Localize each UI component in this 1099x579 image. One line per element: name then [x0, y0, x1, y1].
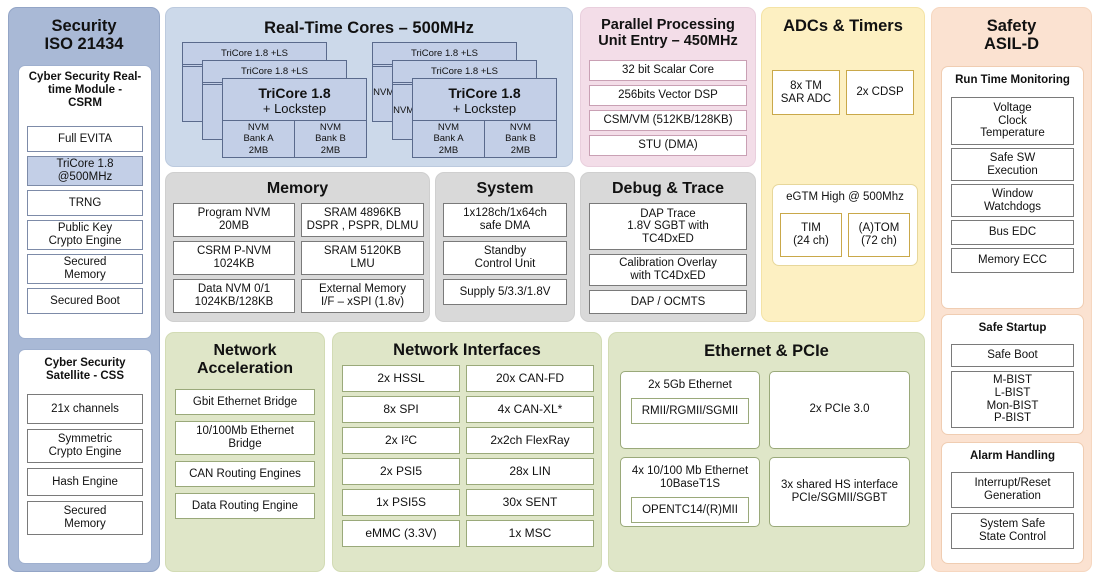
memory-left-item-0[interactable]: Program NVM20MB	[173, 203, 295, 237]
panel-safety: Safety ASIL-D Run Time Monitoring Voltag…	[931, 7, 1092, 572]
startup-item-0[interactable]: Safe Boot	[951, 344, 1074, 367]
egtm-item-row: TIM(24 ch)(A)TOM(72 ch)	[780, 213, 910, 257]
ethernet-block-1[interactable]: 2x PCIe 3.0	[769, 371, 910, 449]
memory-right-item-2[interactable]: External MemoryI/F – xSPI (1.8v)	[301, 279, 424, 313]
nacc-item-2[interactable]: CAN Routing Engines	[175, 461, 315, 487]
startup-title: Safe Startup	[942, 315, 1083, 335]
css-title-line2: Satellite - CSS	[19, 370, 151, 383]
csrm-item-5[interactable]: Secured Boot	[27, 288, 143, 314]
ethernet-pcie-title: Ethernet & PCIe	[609, 342, 924, 360]
runtime-item-list: VoltageClockTemperatureSafe SWExecutionW…	[951, 97, 1074, 276]
core-front-title-line2: + Lockstep	[453, 102, 516, 117]
block-diagram: Security ISO 21434 Cyber Security Real- …	[0, 0, 1099, 579]
core-group-0: TriCore 1.8 +LSTriCore 1.8 +LSTriCore 1.…	[182, 42, 367, 158]
ppu-item-0[interactable]: 32 bit Scalar Core	[589, 60, 747, 81]
ethernet-block-inner-2[interactable]: OPENTC14/(R)MII	[631, 497, 749, 523]
subpanel-css: Cyber Security Satellite - CSS 21x chann…	[18, 349, 152, 564]
core-front-header: TriCore 1.8+ Lockstep	[413, 79, 556, 123]
nif-right-item-2[interactable]: 2x2ch FlexRay	[466, 427, 594, 454]
ethernet-block-caption-0: 2x 5Gb Ethernet	[648, 372, 732, 392]
network-interfaces-title: Network Interfaces	[333, 341, 601, 359]
nif-left-item-0[interactable]: 2x HSSL	[342, 365, 460, 392]
ppu-item-3[interactable]: STU (DMA)	[589, 135, 747, 156]
nif-right-item-4[interactable]: 30x SENT	[466, 489, 594, 516]
nif-left-item-2[interactable]: 2x I²C	[342, 427, 460, 454]
ppu-title-line1: Parallel Processing	[581, 17, 755, 33]
core-front-title-line1: TriCore 1.8	[448, 86, 520, 102]
runtime-item-2[interactable]: WindowWatchdogs	[951, 184, 1074, 217]
nif-right-item-3[interactable]: 28x LIN	[466, 458, 594, 485]
panel-system: System 1x128ch/1x64chsafe DMAStandbyCont…	[435, 172, 575, 322]
nif-left-item-4[interactable]: 1x PSI5S	[342, 489, 460, 516]
adc-title: ADCs & Timers	[762, 17, 924, 35]
safety-title: Safety ASIL-D	[932, 17, 1091, 54]
system-item-list: 1x128ch/1x64chsafe DMAStandbyControl Uni…	[443, 203, 567, 309]
ethernet-block-0[interactable]: 2x 5Gb EthernetRMII/RGMII/SGMII	[620, 371, 760, 449]
panel-security-title: Security ISO 21434	[9, 17, 159, 54]
ethernet-block-3[interactable]: 3x shared HS interfacePCIe/SGMII/SGBT	[769, 457, 910, 527]
security-title-line1: Security	[9, 17, 159, 35]
core-group-1: TriCore 1.8 +LSNVMBank A1MBTriCore 1.8 +…	[372, 42, 557, 158]
safety-title-line1: Safety	[932, 17, 1091, 35]
egtm-title: eGTM High @ 500Mhz	[773, 185, 917, 203]
ppu-item-1[interactable]: 256bits Vector DSP	[589, 85, 747, 106]
nif-left-item-5[interactable]: eMMC (3.3V)	[342, 520, 460, 547]
nif-right-item-5[interactable]: 1x MSC	[466, 520, 594, 547]
egtm-item-1[interactable]: (A)TOM(72 ch)	[848, 213, 910, 257]
memory-right-column: SRAM 4896KBDSPR , PSPR, DLMUSRAM 5120KBL…	[301, 203, 424, 317]
egtm-item-0[interactable]: TIM(24 ch)	[780, 213, 842, 257]
core-front-bank-0[interactable]: NVMBank A2MB	[413, 121, 484, 157]
nacc-item-0[interactable]: Gbit Ethernet Bridge	[175, 389, 315, 415]
alarm-item-list: Interrupt/ResetGenerationSystem SafeStat…	[951, 472, 1074, 554]
panel-debug-trace: Debug & Trace DAP Trace1.8V SGBT withTC4…	[580, 172, 756, 322]
nif-left-item-3[interactable]: 2x PSI5	[342, 458, 460, 485]
startup-item-list: Safe BootM-BISTL-BISTMon-BISTP-BIST	[951, 344, 1074, 432]
nacc-item-1[interactable]: 10/100Mb EthernetBridge	[175, 421, 315, 455]
memory-left-item-1[interactable]: CSRM P-NVM1024KB	[173, 241, 295, 275]
core-front-title-line2: + Lockstep	[263, 102, 326, 117]
csrm-item-3[interactable]: Public KeyCrypto Engine	[27, 220, 143, 250]
csrm-title-line2: time Module -	[19, 84, 151, 97]
csrm-item-1[interactable]: TriCore 1.8@500MHz	[27, 156, 143, 186]
core-front-bank-0[interactable]: NVMBank A2MB	[223, 121, 294, 157]
debug-item-2[interactable]: DAP / OCMTS	[589, 290, 747, 314]
runtime-item-4[interactable]: Memory ECC	[951, 248, 1074, 273]
nif-left-item-1[interactable]: 8x SPI	[342, 396, 460, 423]
core-front-bank-1[interactable]: NVMBank B2MB	[484, 121, 556, 157]
nacc-title-line1: Network	[166, 342, 324, 360]
nacc-title-line2: Acceleration	[166, 360, 324, 378]
ethernet-block-caption-3: 3x shared HS interfacePCIe/SGMII/SGBT	[781, 479, 898, 505]
memory-right-item-1[interactable]: SRAM 5120KBLMU	[301, 241, 424, 275]
ethernet-block-inner-0[interactable]: RMII/RGMII/SGMII	[631, 398, 749, 424]
security-title-line2: ISO 21434	[9, 35, 159, 53]
nacc-item-list: Gbit Ethernet Bridge10/100Mb EthernetBri…	[175, 389, 315, 525]
nacc-item-3[interactable]: Data Routing Engine	[175, 493, 315, 519]
runtime-item-3[interactable]: Bus EDC	[951, 220, 1074, 245]
css-item-list: 21x channelsSymmetricCrypto EngineHash E…	[27, 394, 143, 540]
startup-item-1[interactable]: M-BISTL-BISTMon-BISTP-BIST	[951, 371, 1074, 428]
adc-top-item-1[interactable]: 2x CDSP	[846, 70, 914, 115]
nif-right-item-0[interactable]: 20x CAN-FD	[466, 365, 594, 392]
memory-left-item-2[interactable]: Data NVM 0/11024KB/128KB	[173, 279, 295, 313]
nif-right-column: 20x CAN-FD4x CAN-XL*2x2ch FlexRay28x LIN…	[466, 365, 594, 551]
subpanel-egtm: eGTM High @ 500Mhz TIM(24 ch)(A)TOM(72 c…	[772, 184, 918, 266]
subpanel-run-time-monitoring: Run Time Monitoring VoltageClockTemperat…	[941, 66, 1084, 309]
css-item-3[interactable]: SecuredMemory	[27, 501, 143, 535]
memory-title: Memory	[166, 180, 429, 198]
debug-item-1[interactable]: Calibration Overlaywith TC4DxED	[589, 254, 747, 286]
css-item-1[interactable]: SymmetricCrypto Engine	[27, 429, 143, 463]
safety-title-line2: ASIL-D	[932, 35, 1091, 53]
csrm-item-2[interactable]: TRNG	[27, 190, 143, 216]
runtime-title: Run Time Monitoring	[942, 67, 1083, 87]
runtime-item-0[interactable]: VoltageClockTemperature	[951, 97, 1074, 145]
debug-title: Debug & Trace	[581, 180, 755, 198]
panel-adcs-timers: ADCs & Timers 8x TMSAR ADC2x CDSP eGTM H…	[761, 7, 925, 322]
ppu-title: Parallel Processing Unit Entry – 450MHz	[581, 17, 755, 49]
runtime-item-1[interactable]: Safe SWExecution	[951, 148, 1074, 181]
alarm-title: Alarm Handling	[942, 443, 1083, 463]
subpanel-alarm-handling: Alarm Handling Interrupt/ResetGeneration…	[941, 442, 1084, 564]
core-front-title-line1: TriCore 1.8	[258, 86, 330, 102]
csrm-item-0[interactable]: Full EVITA	[27, 126, 143, 152]
ethernet-block-2[interactable]: 4x 10/100 Mb Ethernet10BaseT1SOPENTC14/(…	[620, 457, 760, 527]
subpanel-safe-startup: Safe Startup Safe BootM-BISTL-BISTMon-BI…	[941, 314, 1084, 435]
csrm-title-line1: Cyber Security Real-	[19, 71, 151, 84]
system-item-2[interactable]: Supply 5/3.3/1.8V	[443, 279, 567, 305]
memory-left-column: Program NVM20MBCSRM P-NVM1024KBData NVM …	[173, 203, 295, 317]
css-item-0[interactable]: 21x channels	[27, 394, 143, 424]
system-item-0[interactable]: 1x128ch/1x64chsafe DMA	[443, 203, 567, 237]
subpanel-csrm: Cyber Security Real- time Module - CSRM …	[18, 65, 152, 339]
core-front-header: TriCore 1.8+ Lockstep	[223, 79, 366, 123]
core-card-front-0[interactable]: TriCore 1.8+ LockstepNVMBank A2MBNVMBank…	[222, 78, 367, 158]
system-item-1[interactable]: StandbyControl Unit	[443, 241, 567, 275]
css-title-line1: Cyber Security	[19, 357, 151, 370]
ethernet-block-caption-2: 4x 10/100 Mb Ethernet10BaseT1S	[632, 458, 748, 491]
panel-security: Security ISO 21434 Cyber Security Real- …	[8, 7, 160, 572]
alarm-item-0[interactable]: Interrupt/ResetGeneration	[951, 472, 1074, 508]
panel-network-acceleration: Network Acceleration Gbit Ethernet Bridg…	[165, 332, 325, 572]
csrm-title-line3: CSRM	[19, 97, 151, 110]
adc-top-item-0[interactable]: 8x TMSAR ADC	[772, 70, 840, 115]
ppu-title-line2: Unit Entry – 450MHz	[581, 33, 755, 49]
network-acceleration-title: Network Acceleration	[166, 342, 324, 378]
panel-realtime-cores: Real-Time Cores – 500MHz TriCore 1.8 +LS…	[165, 7, 573, 167]
core-card-front-1[interactable]: TriCore 1.8+ LockstepNVMBank A2MBNVMBank…	[412, 78, 557, 158]
ethernet-block-caption-1: 2x PCIe 3.0	[809, 403, 869, 416]
nif-left-column: 2x HSSL8x SPI2x I²C2x PSI51x PSI5SeMMC (…	[342, 365, 460, 551]
debug-item-0[interactable]: DAP Trace1.8V SGBT withTC4DxED	[589, 203, 747, 250]
alarm-item-1[interactable]: System SafeState Control	[951, 513, 1074, 549]
panel-ethernet-pcie: Ethernet & PCIe 2x 5Gb EthernetRMII/RGMI…	[608, 332, 925, 572]
ppu-item-2[interactable]: CSM/VM (512KB/128KB)	[589, 110, 747, 131]
debug-item-list: DAP Trace1.8V SGBT withTC4DxEDCalibratio…	[589, 203, 747, 318]
core-front-bank-1[interactable]: NVMBank B2MB	[294, 121, 366, 157]
csrm-title: Cyber Security Real- time Module - CSRM	[19, 66, 151, 110]
csrm-item-list: Full EVITATriCore 1.8@500MHzTRNGPublic K…	[27, 126, 143, 318]
panel-memory: Memory Program NVM20MBCSRM P-NVM1024KBDa…	[165, 172, 430, 322]
panel-parallel-processing-unit: Parallel Processing Unit Entry – 450MHz …	[580, 7, 756, 167]
css-item-2[interactable]: Hash Engine	[27, 468, 143, 496]
ppu-item-list: 32 bit Scalar Core256bits Vector DSPCSM/…	[589, 60, 747, 160]
csrm-item-4[interactable]: SecuredMemory	[27, 254, 143, 284]
panel-network-interfaces: Network Interfaces 2x HSSL8x SPI2x I²C2x…	[332, 332, 602, 572]
css-title: Cyber Security Satellite - CSS	[19, 350, 151, 383]
adc-top-row: 8x TMSAR ADC2x CDSP	[772, 70, 914, 115]
realtime-cores-title: Real-Time Cores – 500MHz	[166, 19, 572, 37]
system-title: System	[436, 180, 574, 198]
nif-right-item-1[interactable]: 4x CAN-XL*	[466, 396, 594, 423]
memory-right-item-0[interactable]: SRAM 4896KBDSPR , PSPR, DLMU	[301, 203, 424, 237]
